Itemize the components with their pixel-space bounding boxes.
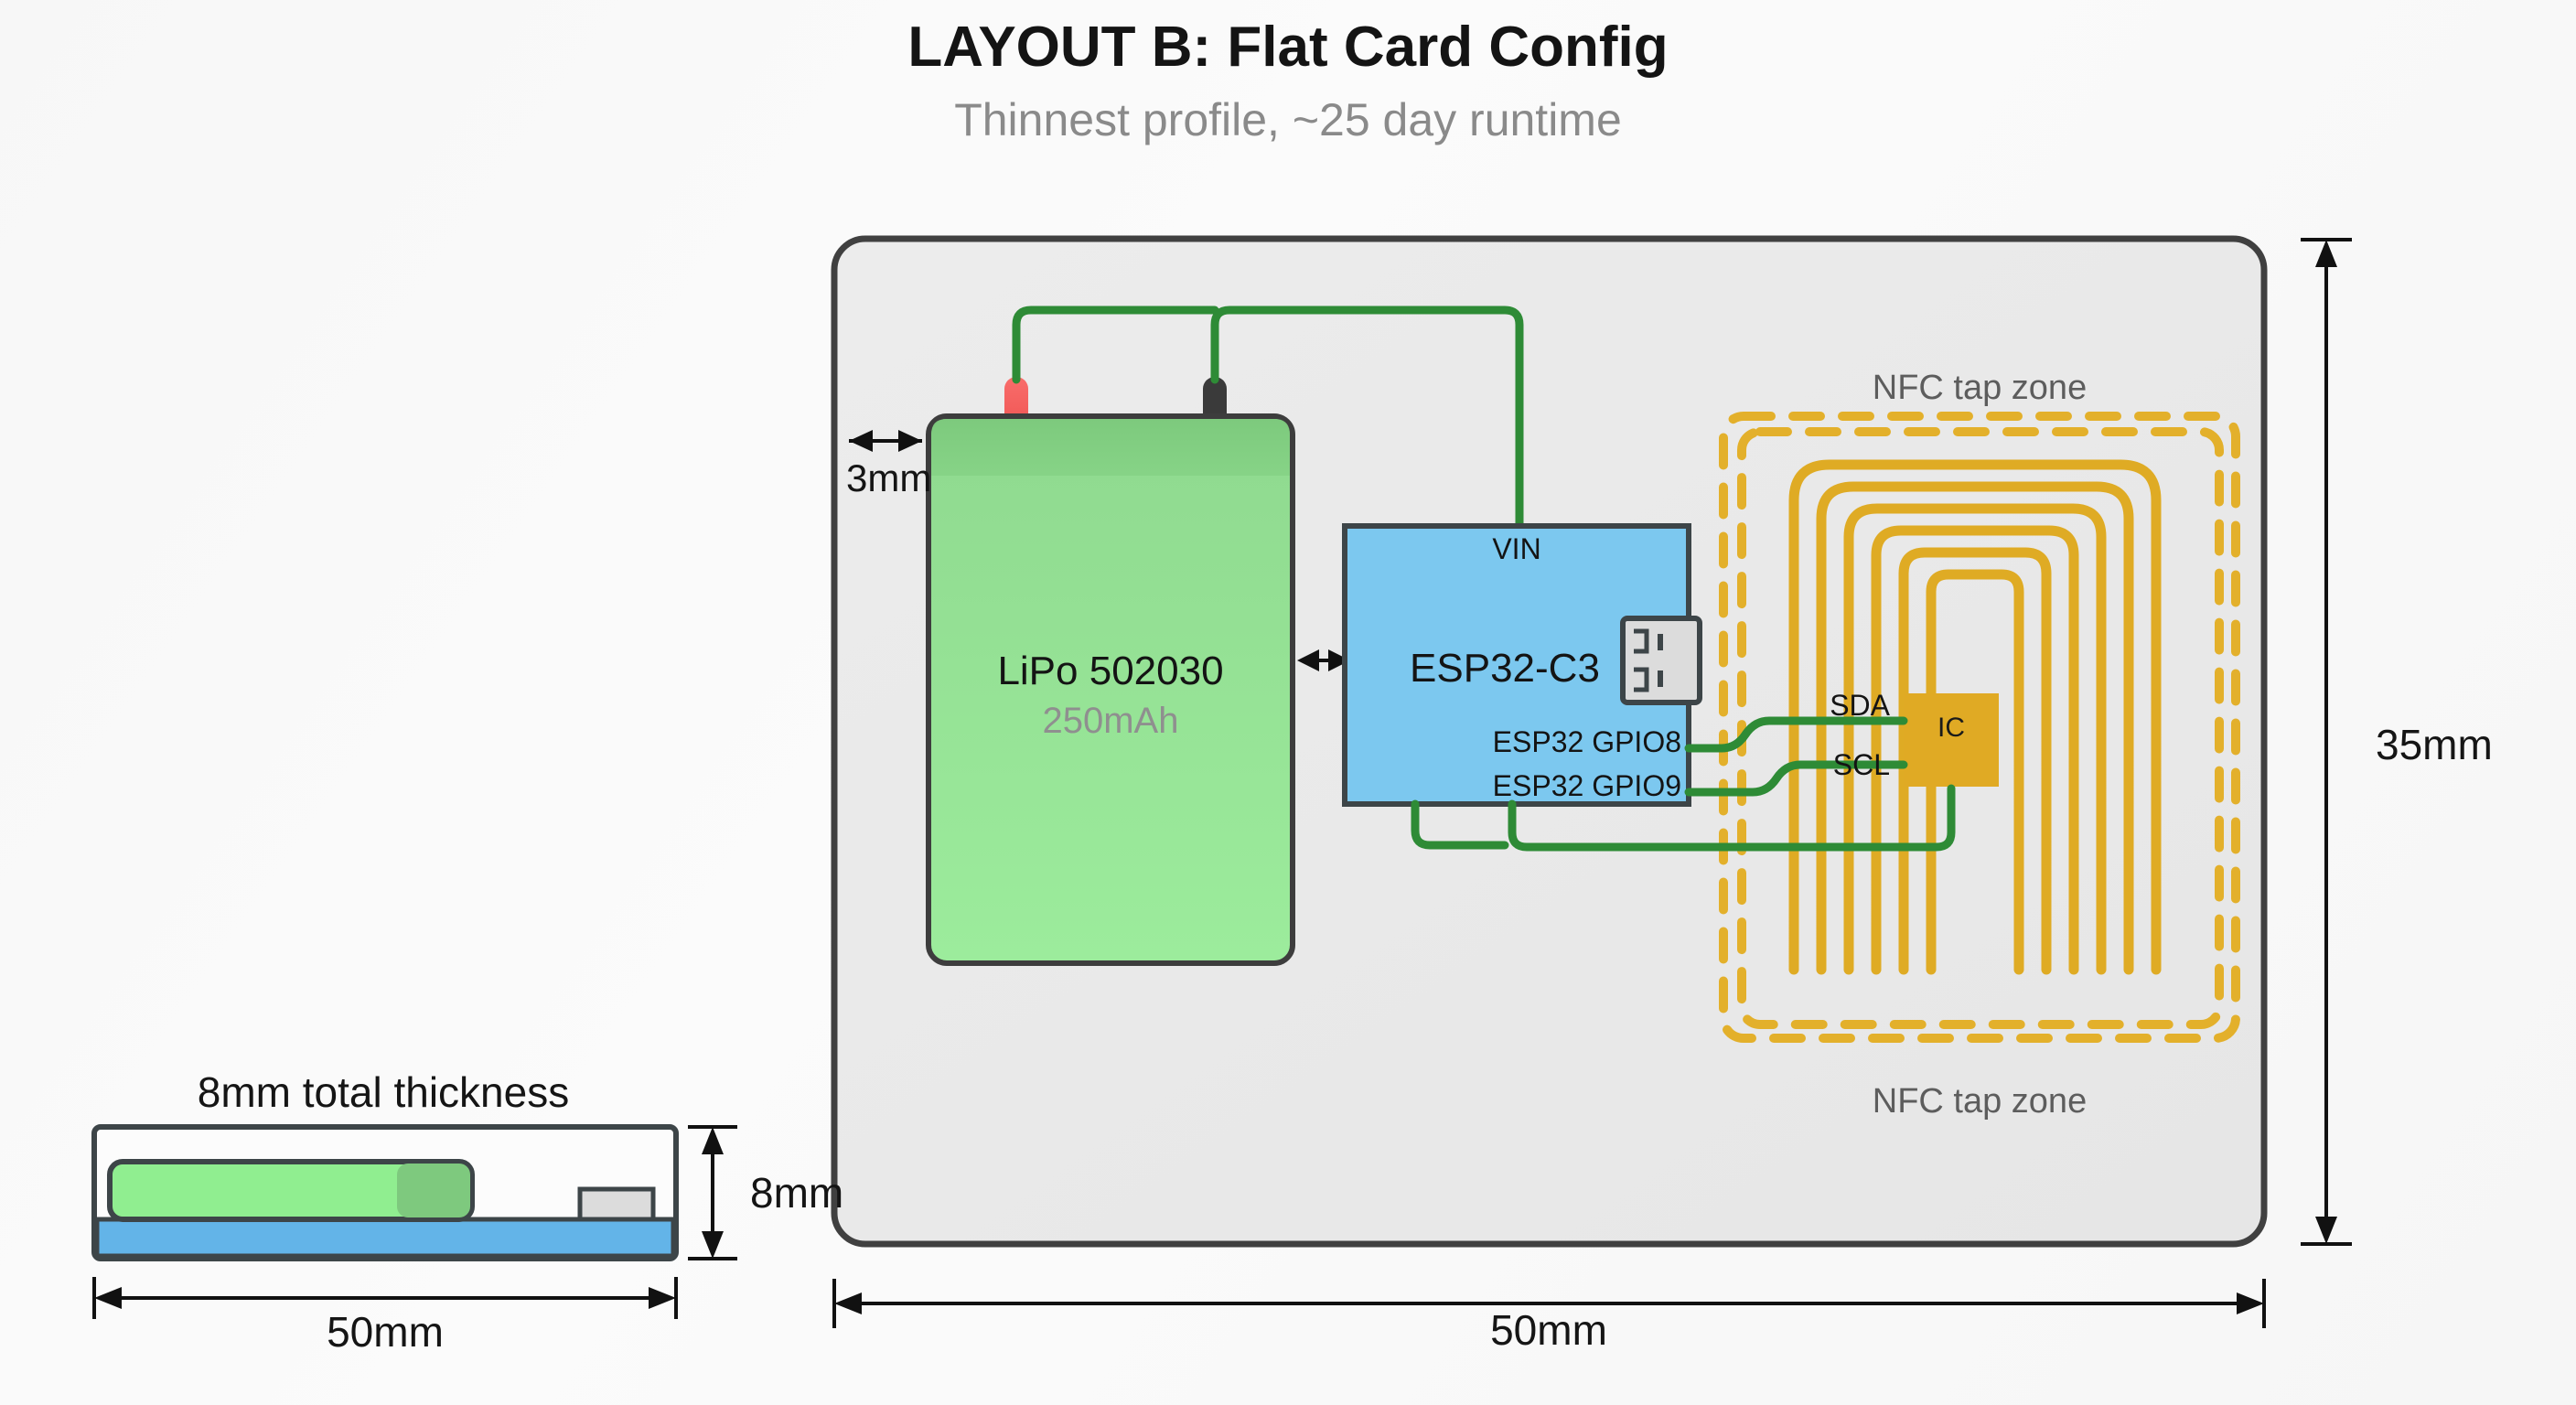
side-view-length-label: 50mm	[327, 1308, 444, 1356]
battery-capacity-label: 250mAh	[1043, 701, 1179, 741]
diagram-canvas: LAYOUT B: Flat Card Config Thinnest prof…	[0, 0, 2576, 1405]
sda-signal-label: SDA	[1830, 689, 1890, 722]
side-view-pcb-layer	[97, 1219, 673, 1256]
mcu-gpio9-label: ESP32 GPIO9	[1493, 769, 1681, 802]
usb-c-connector-icon	[1623, 618, 1700, 702]
nfc-zone-label-top: NFC tap zone	[1873, 369, 2087, 407]
nfc-zone-label-bottom: NFC tap zone	[1873, 1082, 2087, 1121]
mcu-name-label: ESP32-C3	[1410, 646, 1600, 691]
dimension-height-35mm	[2301, 240, 2352, 1244]
card-height-label: 35mm	[2376, 721, 2493, 768]
side-view-title: 8mm total thickness	[198, 1068, 569, 1116]
side-view-thickness-label: 8mm	[750, 1169, 843, 1217]
margin-dimension-label: 3mm	[846, 456, 931, 499]
scl-signal-label: SCL	[1833, 748, 1890, 781]
battery-name-label: LiPo 502030	[997, 649, 1223, 693]
side-view-battery-end	[397, 1164, 470, 1217]
page-subtitle: Thinnest profile, ~25 day runtime	[954, 94, 1622, 145]
mcu-vin-label: VIN	[1492, 532, 1540, 565]
battery-top-band	[931, 419, 1290, 476]
card-width-label: 50mm	[1490, 1306, 1607, 1354]
page-title: LAYOUT B: Flat Card Config	[907, 16, 1668, 79]
dimension-thickness-8mm	[688, 1127, 737, 1259]
mcu-gpio8-label: ESP32 GPIO8	[1493, 725, 1681, 758]
nfc-ic-label: IC	[1937, 713, 1965, 743]
side-view-component	[580, 1189, 653, 1219]
layout-diagram: LAYOUT B: Flat Card Config Thinnest prof…	[0, 0, 2576, 1405]
